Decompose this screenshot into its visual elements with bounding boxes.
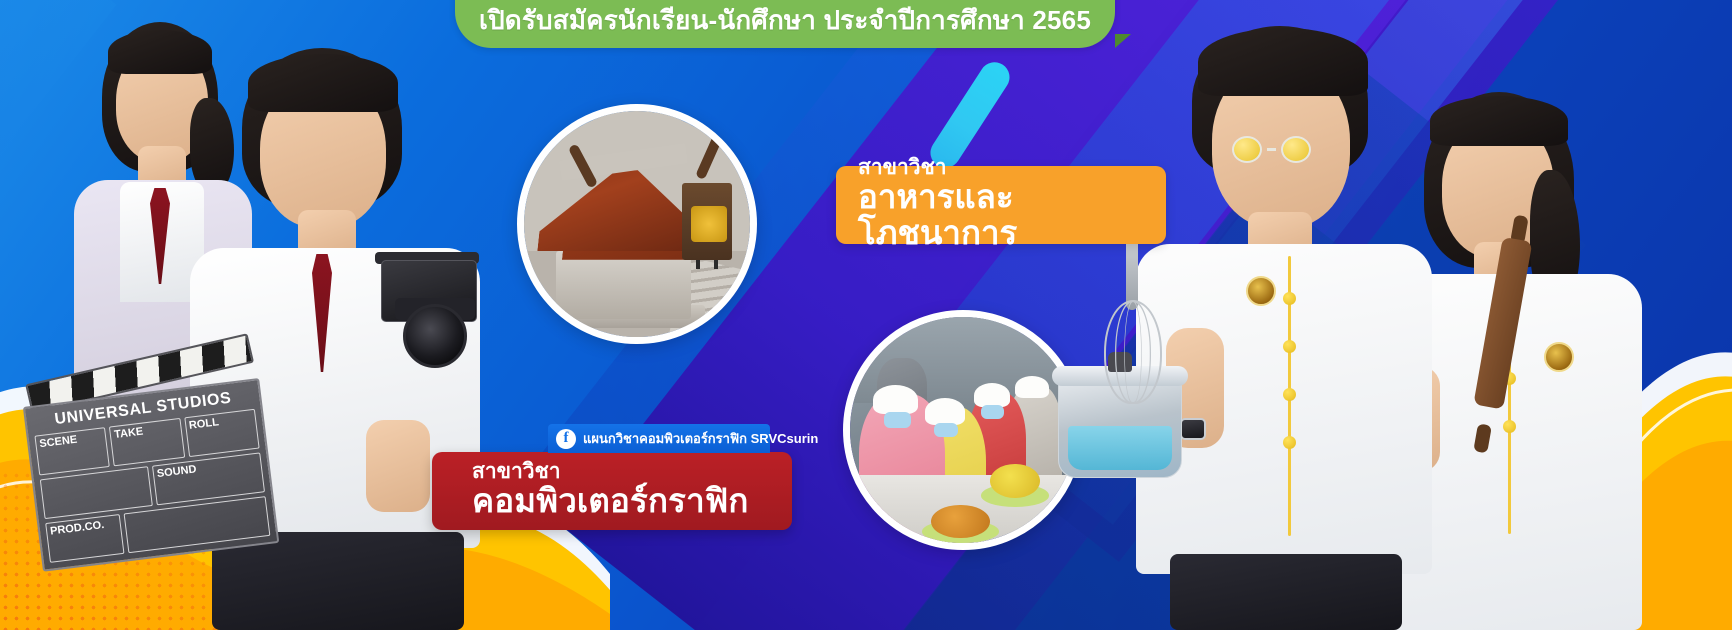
coat-button [1283, 340, 1296, 353]
temple-base [556, 251, 692, 319]
clapperboard-field-take: TAKE [109, 418, 185, 466]
program-badge-computer-graphics: สาขาวิชา คอมพิวเตอร์กราฟิก [432, 452, 792, 530]
clapperboard-body: UNIVERSAL STUDIOS SCENE TAKE ROLL SOUND … [23, 378, 279, 572]
clapperboard: UNIVERSAL STUDIOS SCENE TAKE ROLL SOUND … [19, 344, 280, 572]
chef-hat [1015, 376, 1049, 399]
green-banner-text: เปิดรับสมัครนักเรียน-นักศึกษา ประจำปีการ… [479, 0, 1091, 41]
coat-button [1283, 388, 1296, 401]
temple-chofa-finial [695, 134, 723, 180]
temple-illustration [524, 111, 750, 337]
red-badge-line2: คอมพิวเตอร์กราฟิก [472, 483, 792, 519]
admission-promo-banner: UNIVERSAL STUDIOS SCENE TAKE ROLL SOUND … [0, 0, 1732, 630]
facebook-page-bar[interactable]: f แผนกวิชาคอมพิวเตอร์กราฟิก SRVCsurin [548, 424, 770, 453]
chef-hat [873, 385, 918, 414]
necktie-maroon [150, 188, 170, 284]
chef-hat [974, 383, 1010, 408]
sunglasses-icon [1232, 136, 1311, 163]
rolling-pin [1454, 211, 1549, 457]
pot-liquid [1068, 426, 1172, 470]
clapperboard-field-scene: SCENE [34, 427, 110, 475]
halftone-dots-orange-right [1480, 500, 1730, 630]
chef-hat [925, 398, 966, 425]
temple-gold-ornament [691, 206, 727, 242]
camera-lens [403, 304, 467, 368]
rolling-pin-handle [1473, 423, 1492, 453]
school-emblem [1246, 276, 1276, 306]
person-chef-male [1136, 26, 1436, 630]
face-mask [981, 405, 1004, 419]
clapperboard-field-prodco: PROD.CO. [45, 514, 125, 563]
face-mask [934, 423, 959, 437]
orange-badge-line2: อาหารและโภชนาการ [858, 179, 1166, 250]
coat-piping [1288, 256, 1291, 536]
facebook-icon[interactable]: f [556, 429, 576, 449]
culinary-photo-circle [843, 310, 1083, 550]
facebook-page-name: แผนกวิชาคอมพิวเตอร์กราฟิก SRVCsurin [583, 428, 818, 449]
sunglass-lens-left [1232, 136, 1262, 163]
whisk-wire [1124, 300, 1141, 404]
temple-photo-circle [517, 104, 757, 344]
clapperboard-field-roll: ROLL [184, 409, 260, 457]
orange-wave-right [1182, 330, 1732, 630]
culinary-illustration [850, 317, 1076, 543]
coat-button [1283, 436, 1296, 449]
coat-button [1283, 292, 1296, 305]
orange-badge-line1: สาขาวิชา [858, 157, 1166, 179]
program-badge-food-nutrition: สาขาวิชา อาหารและโภชนาการ [836, 166, 1166, 244]
school-emblem [1544, 342, 1574, 372]
sunglass-lens-right [1281, 136, 1311, 163]
necktie-maroon [312, 254, 332, 372]
bracelet [1394, 440, 1420, 449]
face-mask [884, 412, 911, 428]
rolling-pin-body [1473, 237, 1532, 410]
video-camera [375, 252, 495, 372]
green-announcement-banner: เปิดรับสมัครนักเรียน-นักศึกษา ประจำปีการ… [455, 0, 1115, 48]
red-badge-line1: สาขาวิชา [472, 461, 792, 483]
sunglass-bridge [1267, 148, 1276, 151]
decorated-cake [990, 464, 1040, 498]
